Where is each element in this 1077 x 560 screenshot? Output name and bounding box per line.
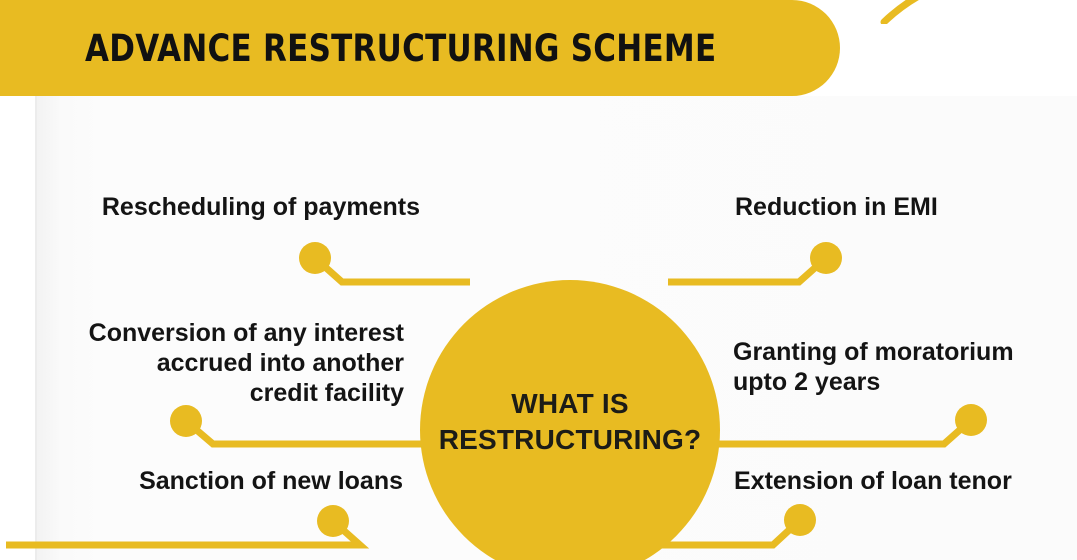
connector-reduction-emi — [668, 258, 826, 282]
label-moratorium: Granting of moratorium upto 2 years — [733, 337, 1077, 397]
label-extension-tenor: Extension of loan tenor — [734, 466, 1077, 496]
connector-moratorium — [706, 420, 971, 444]
center-circle: WHAT IS RESTRUCTURING? — [420, 280, 720, 560]
title-banner: ADVANCE RESTRUCTURING SCHEME — [0, 0, 840, 96]
label-rescheduling: Rescheduling of payments — [0, 192, 420, 222]
node-dot-moratorium — [955, 404, 987, 436]
label-reduction-emi: Reduction in EMI — [735, 192, 1075, 222]
connector-conversion — [186, 421, 436, 444]
center-title-line-1: WHAT IS — [511, 386, 629, 422]
connector-rescheduling — [315, 258, 470, 282]
label-conversion-line-1: Conversion of any interest — [0, 318, 404, 348]
label-conversion-line-2: accrued into another — [0, 348, 404, 378]
label-conversion-line-3: credit facility — [0, 378, 404, 408]
page-title: ADVANCE RESTRUCTURING SCHEME — [85, 27, 716, 70]
node-dot-sanction-new-loans — [317, 505, 349, 537]
node-dot-conversion — [170, 405, 202, 437]
connector-sanction-new-loans — [6, 521, 360, 545]
label-sanction-new-loans: Sanction of new loans — [0, 466, 403, 496]
node-dot-extension-tenor — [784, 504, 816, 536]
label-conversion: Conversion of any interest accrued into … — [0, 318, 404, 408]
infographic-canvas: ADVANCE RESTRUCTURING SCHEME WHAT IS RES… — [0, 0, 1077, 560]
center-title-line-2: RESTRUCTURING? — [439, 422, 702, 458]
label-moratorium-line-2: upto 2 years — [733, 367, 1077, 397]
label-moratorium-line-1: Granting of moratorium — [733, 337, 1077, 367]
node-dot-reduction-emi — [810, 242, 842, 274]
node-dot-rescheduling — [299, 242, 331, 274]
